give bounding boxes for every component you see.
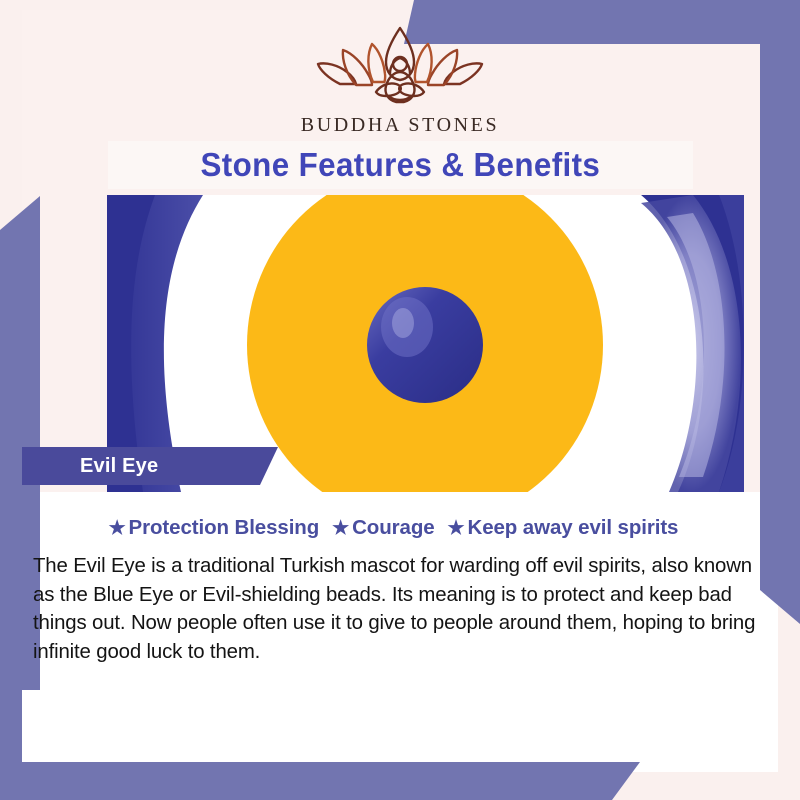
- stone-name-label: Evil Eye: [22, 455, 158, 478]
- brand-name: BUDDHA STONES: [301, 114, 499, 137]
- benefit-label: Courage: [352, 516, 434, 540]
- benefit-item-keep-away-evil-spirits: ★ Keep away evil spirits: [448, 516, 679, 540]
- title-banner: Stone Features & Benefits: [108, 141, 693, 189]
- star-icon: ★: [448, 519, 465, 538]
- bottom-white-area: [22, 690, 778, 762]
- stone-name-ribbon: Evil Eye: [22, 447, 278, 485]
- poster-canvas: BUDDHA STONES Stone Features & Benefits: [0, 0, 800, 800]
- star-icon: ★: [109, 519, 126, 538]
- frame-band-bottom: [0, 762, 640, 800]
- benefits-row: ★ Protection Blessing ★ Courage ★ Keep a…: [22, 516, 778, 540]
- benefit-label: Protection Blessing: [129, 516, 320, 540]
- page-title: Stone Features & Benefits: [201, 146, 601, 184]
- lotus-meditation-figure-icon: [310, 22, 490, 110]
- benefit-label: Keep away evil spirits: [467, 516, 678, 540]
- description-text: The Evil Eye is a traditional Turkish ma…: [33, 552, 773, 666]
- benefit-item-protection: ★ Protection Blessing: [109, 516, 320, 540]
- star-icon: ★: [332, 519, 349, 538]
- benefit-item-courage: ★ Courage: [332, 516, 434, 540]
- brand-logo: BUDDHA STONES: [0, 22, 800, 137]
